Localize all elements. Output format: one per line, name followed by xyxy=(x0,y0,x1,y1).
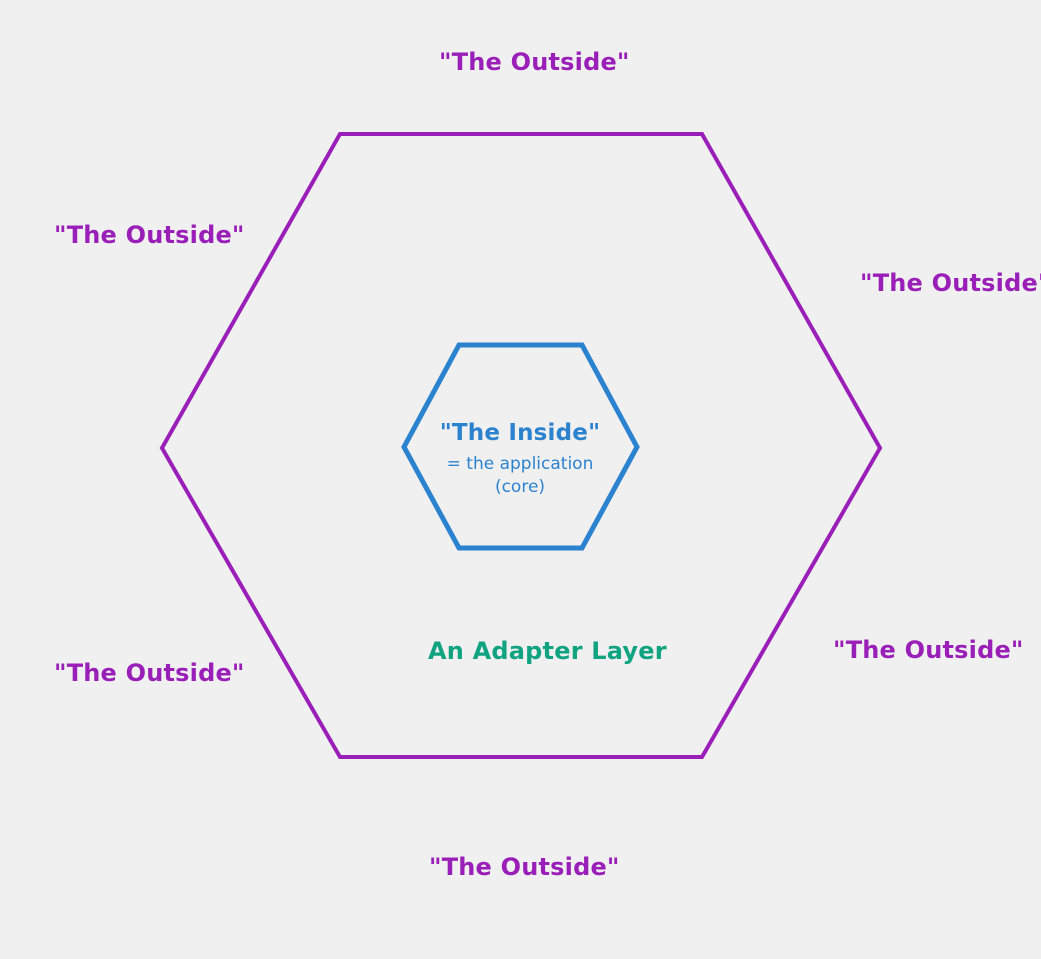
inside-subtitle-label: = the application(core) xyxy=(410,453,630,498)
inside-subtitle-line2: (core) xyxy=(495,477,545,497)
application-core-label-group: "The Inside" = the application(core) xyxy=(410,420,630,498)
outside-label-left-upper: "The Outside" xyxy=(54,221,245,249)
outside-label-left-lower: "The Outside" xyxy=(54,659,245,687)
inside-title-label: "The Inside" xyxy=(410,420,630,446)
outside-label-right-lower: "The Outside" xyxy=(833,636,1024,664)
adapter-layer-label: An Adapter Layer xyxy=(428,637,667,665)
outside-label-right-upper: "The Outside" xyxy=(860,269,1041,297)
outside-label-bottom: "The Outside" xyxy=(429,853,620,881)
hexagonal-architecture-diagram: "The Inside" = the application(core) An … xyxy=(0,0,1041,959)
inside-subtitle-line1: = the application xyxy=(447,454,594,474)
outside-label-top: "The Outside" xyxy=(439,48,630,76)
